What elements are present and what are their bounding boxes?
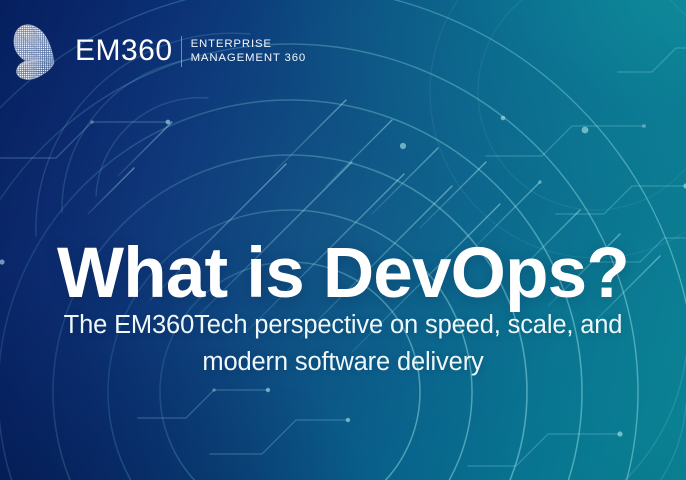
tagline-line-2: MANAGEMENT 360 — [191, 51, 307, 65]
em360-wordmark: EM360 — [75, 36, 173, 66]
tagline-line-1: ENTERPRISE — [191, 37, 307, 51]
hero-subtitle: The EM360Tech perspective on speed, scal… — [40, 307, 646, 381]
logo-divider — [181, 36, 182, 67]
hero-title: What is DevOps? — [0, 234, 686, 314]
em360-tagline: ENTERPRISE MANAGEMENT 360 — [191, 37, 307, 65]
em360-hero-banner: EM360 ENTERPRISE MANAGEMENT 360 What is … — [0, 0, 686, 480]
em360-fan-logo-icon — [13, 19, 71, 81]
em360-logo-lockup[interactable]: EM360 ENTERPRISE MANAGEMENT 360 — [13, 17, 306, 83]
